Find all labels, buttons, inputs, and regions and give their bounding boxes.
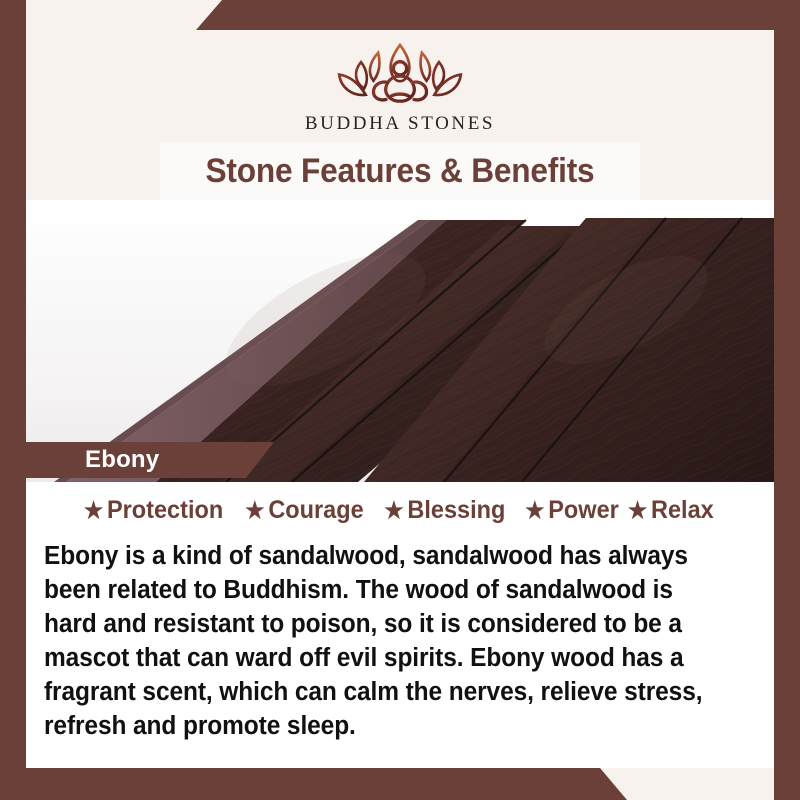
page-title: Stone Features & Benefits	[52, 142, 748, 200]
benefit-item-blessing: ★ Blessing	[384, 496, 517, 525]
product-photo: Ebony	[26, 200, 774, 482]
title-banner: Stone Features & Benefits	[26, 142, 774, 200]
ebony-wood-planks-photo	[26, 200, 774, 482]
frame-band-left	[0, 0, 26, 800]
benefit-label: Power	[548, 496, 619, 525]
description-text: Ebony is a kind of sandalwood, sandalwoo…	[44, 540, 728, 743]
page-content: BUDDHA STONES Stone Features & Benefits	[26, 30, 774, 768]
benefits-list: ★ Protection ★ Courage ★ Blessing ★ Powe…	[26, 482, 774, 534]
benefit-item-relax: ★ Relax	[628, 496, 718, 525]
frame-band-top	[0, 0, 800, 30]
benefit-label: Courage	[268, 496, 363, 525]
benefit-item-protection: ★ Protection	[84, 496, 236, 525]
product-name: Ebony	[85, 446, 159, 474]
description-block: Ebony is a kind of sandalwood, sandalwoo…	[26, 534, 774, 768]
frame-band-right	[774, 0, 800, 800]
benefit-item-courage: ★ Courage	[245, 496, 376, 525]
star-icon: ★	[84, 497, 103, 524]
product-name-banner: Ebony	[26, 442, 274, 478]
lotus-meditation-icon	[320, 34, 480, 112]
star-icon: ★	[628, 497, 647, 524]
benefit-label: Protection	[107, 496, 223, 525]
brand-name: BUDDHA STONES	[305, 113, 495, 135]
benefit-label: Relax	[651, 496, 714, 525]
star-icon: ★	[384, 497, 403, 524]
star-icon: ★	[525, 497, 544, 524]
benefit-item-power: ★ Power	[525, 496, 622, 525]
benefit-label: Blessing	[407, 496, 505, 525]
frame-band-bottom	[0, 768, 800, 800]
brand-logo: BUDDHA STONES	[26, 30, 774, 142]
star-icon: ★	[245, 497, 264, 524]
